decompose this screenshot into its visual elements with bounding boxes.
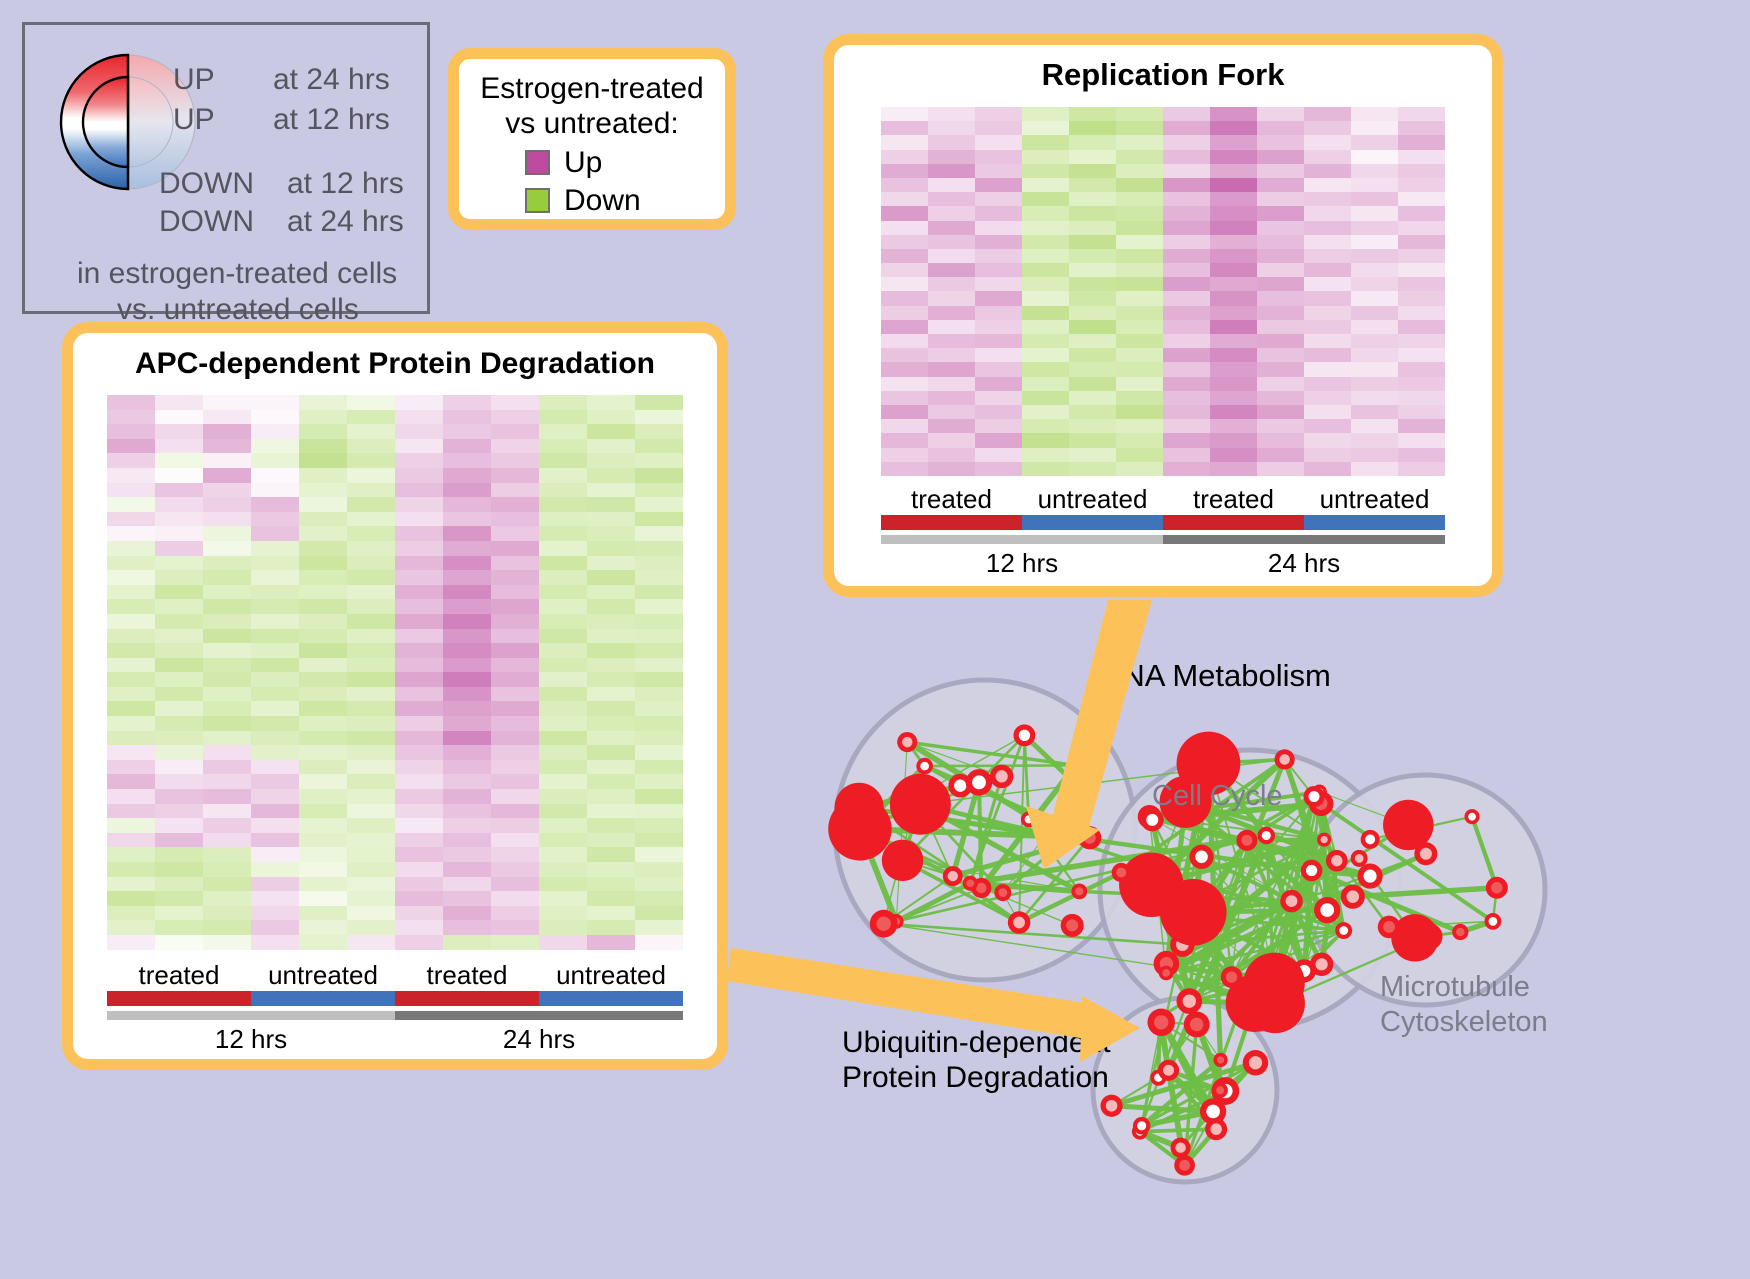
heatmap-cell: [1257, 107, 1304, 121]
network-node-core: [1364, 870, 1377, 883]
heatmap-cell: [1304, 263, 1351, 277]
condition-bar-segment: [539, 991, 683, 1006]
heatmap-cell: [443, 891, 491, 906]
heatmap-cell: [443, 716, 491, 731]
heatmap-cell: [299, 862, 347, 877]
heatmap-cell: [299, 556, 347, 571]
heatmap-cell: [1257, 377, 1304, 391]
heatmap-cell: [881, 405, 928, 419]
heatmap-cell: [975, 263, 1022, 277]
heatmap-cell: [155, 847, 203, 862]
heatmap-cell: [299, 906, 347, 921]
heatmap-cell: [203, 745, 251, 760]
heatmap-row: [107, 906, 683, 921]
heatmap-cell: [1351, 277, 1398, 291]
up-label: Up: [564, 146, 602, 180]
heatmap-cell: [1069, 320, 1116, 334]
heatmap-cell: [443, 468, 491, 483]
condition-label: treated: [395, 960, 539, 991]
heatmap-cell: [347, 906, 395, 921]
heatmap-cell: [1022, 320, 1069, 334]
heatmap-cell: [881, 419, 928, 433]
heatmap-cell: [299, 760, 347, 775]
heatmap-row: [107, 424, 683, 439]
heatmap-cell: [881, 377, 928, 391]
time-bar-segment: [881, 535, 1163, 544]
time-color-bar: [107, 1011, 683, 1020]
heatmap-cell: [928, 249, 975, 263]
heatmap-cell: [443, 935, 491, 950]
heatmap-cell: [299, 395, 347, 410]
heatmap-cell: [1304, 306, 1351, 320]
heatmap-cell: [299, 935, 347, 950]
heatmap-cell: [1398, 192, 1445, 206]
heatmap-cell: [975, 164, 1022, 178]
heatmap-cell: [155, 789, 203, 804]
heatmap-cell: [1257, 235, 1304, 249]
network-node-core: [1162, 969, 1170, 977]
heatmap-cell: [635, 847, 683, 862]
heatmap-cell: [635, 891, 683, 906]
heatmap-cell: [928, 348, 975, 362]
network-node-core: [1175, 1142, 1185, 1152]
heatmap-cell: [251, 585, 299, 600]
heatmap-cell: [539, 556, 587, 571]
condition-bar-segment: [1163, 515, 1304, 530]
heatmap-cell: [251, 424, 299, 439]
heatmap-cell: [881, 178, 928, 192]
heatmap-cell: [1304, 164, 1351, 178]
heatmap-cell: [1116, 164, 1163, 178]
updown-legend-header-line2: vs untreated:: [459, 106, 725, 141]
cluster-label-microtubule: Microtubule: [1380, 970, 1548, 1005]
heatmap-cell: [443, 920, 491, 935]
heatmap-cell: [203, 818, 251, 833]
heatmap-cell: [395, 935, 443, 950]
heatmap-cell: [395, 424, 443, 439]
heatmap-cell: [491, 920, 539, 935]
heatmap-cell: [1257, 249, 1304, 263]
heatmap-cell: [1069, 362, 1116, 376]
heatmap-cell: [491, 424, 539, 439]
heatmap-cell: [1210, 377, 1257, 391]
heatmap-cell: [443, 833, 491, 848]
heatmap-cell: [1304, 192, 1351, 206]
heatmap-cell: [975, 178, 1022, 192]
heatmap-cell: [539, 906, 587, 921]
heatmap-cell: [1163, 178, 1210, 192]
heatmap-cell: [347, 658, 395, 673]
heatmap-cell: [251, 920, 299, 935]
heatmap-cell: [928, 277, 975, 291]
heatmap-cell: [1210, 462, 1257, 476]
heatmap-cell: [587, 483, 635, 498]
heatmap-cell: [1257, 164, 1304, 178]
heatmap-cell: [539, 818, 587, 833]
heatmap-cell: [347, 526, 395, 541]
network-node-core: [1316, 958, 1328, 970]
network-node-core: [1241, 835, 1252, 846]
heatmap-cell: [539, 847, 587, 862]
heatmap-cell: [443, 847, 491, 862]
heatmap-cell: [1022, 235, 1069, 249]
heatmap-cell: [155, 658, 203, 673]
heatmap-cell: [928, 462, 975, 476]
heatmap-cell: [587, 935, 635, 950]
heatmap-cell: [635, 862, 683, 877]
heatmap-row: [107, 395, 683, 410]
heatmap-cell: [928, 221, 975, 235]
heatmap-cell: [155, 483, 203, 498]
heatmap-cell: [1022, 448, 1069, 462]
network-node-core: [1320, 903, 1334, 917]
heatmap-row: [107, 847, 683, 862]
heatmap-cell: [251, 731, 299, 746]
heatmap-cell: [107, 877, 155, 892]
heatmap-cell: [539, 453, 587, 468]
heatmap-row: [107, 497, 683, 512]
heatmap-cell: [1116, 178, 1163, 192]
heatmap-row: [107, 862, 683, 877]
heatmap-cell: [107, 935, 155, 950]
heatmap-cell: [635, 789, 683, 804]
heatmap-cell: [1210, 391, 1257, 405]
heatmap-cell: [1398, 362, 1445, 376]
heatmap-cell: [1163, 334, 1210, 348]
network-node-core: [1286, 895, 1298, 907]
heatmap-cell: [395, 512, 443, 527]
network-node-core: [902, 737, 912, 747]
heatmap-cell: [299, 483, 347, 498]
heatmap-cell: [491, 687, 539, 702]
heatmap-cell: [251, 658, 299, 673]
legend-state-up-24: UP: [173, 63, 215, 97]
heatmap-cell: [635, 701, 683, 716]
heatmap-row: [107, 687, 683, 702]
heatmap-cell: [1163, 462, 1210, 476]
heatmap-cell: [347, 541, 395, 556]
heatmap-cell: [1163, 221, 1210, 235]
heatmap-cell: [299, 920, 347, 935]
heatmap-cell: [539, 789, 587, 804]
heatmap-cell: [443, 687, 491, 702]
circle-color-key-legend: UP at 24 hrs UP at 12 hrs DOWN at 12 hrs…: [22, 22, 430, 314]
condition-label: treated: [1163, 484, 1304, 515]
condition-bar-segment: [1022, 515, 1163, 530]
heatmap-cell: [1163, 192, 1210, 206]
network-node-core: [1216, 1086, 1224, 1094]
heatmap-cell: [347, 774, 395, 789]
heatmap-cell: [881, 277, 928, 291]
network-node-core: [1383, 921, 1395, 933]
heatmap-cell: [395, 701, 443, 716]
heatmap-cell: [1022, 107, 1069, 121]
heatmap-cell: [491, 629, 539, 644]
heatmap-cell: [635, 877, 683, 892]
heatmap-cell: [107, 614, 155, 629]
heatmap-cell: [1116, 221, 1163, 235]
heatmap-cell: [1163, 377, 1210, 391]
heatmap-cell: [203, 862, 251, 877]
updown-legend-header-line1: Estrogen-treated: [459, 71, 725, 106]
heatmap-row: [881, 377, 1445, 391]
heatmap-cell: [491, 701, 539, 716]
heatmap-cell: [107, 658, 155, 673]
legend-state-down-12: DOWN: [159, 167, 254, 201]
heatmap-cell: [1069, 334, 1116, 348]
network-node-core: [1468, 813, 1476, 821]
heatmap-cell: [347, 497, 395, 512]
heatmap-cell: [443, 541, 491, 556]
network-node-core: [1489, 917, 1498, 926]
heatmap-cell: [1351, 462, 1398, 476]
heatmap-cell: [1304, 249, 1351, 263]
heatmap-cell: [203, 629, 251, 644]
heatmap-cell: [299, 629, 347, 644]
heatmap-cell: [1163, 235, 1210, 249]
replication-fork-axis: treateduntreatedtreateduntreated12 hrs24…: [881, 484, 1445, 579]
heatmap-cell: [1022, 462, 1069, 476]
heatmap-cell: [587, 439, 635, 454]
heatmap-cell: [1351, 377, 1398, 391]
heatmap-cell: [587, 556, 635, 571]
heatmap-cell: [539, 410, 587, 425]
legend-state-down-24: DOWN: [159, 205, 254, 239]
heatmap-cell: [251, 483, 299, 498]
heatmap-cell: [1069, 348, 1116, 362]
heatmap-cell: [1304, 277, 1351, 291]
heatmap-cell: [1398, 150, 1445, 164]
heatmap-cell: [539, 687, 587, 702]
heatmap-cell: [107, 599, 155, 614]
heatmap-cell: [107, 541, 155, 556]
heatmap-cell: [1398, 164, 1445, 178]
heatmap-cell: [539, 629, 587, 644]
time-label: 24 hrs: [1163, 548, 1445, 579]
heatmap-cell: [443, 599, 491, 614]
heatmap-cell: [251, 453, 299, 468]
heatmap-cell: [155, 862, 203, 877]
network-node-core: [1262, 831, 1271, 840]
heatmap-cell: [491, 541, 539, 556]
heatmap-cell: [203, 424, 251, 439]
heatmap-row: [107, 658, 683, 673]
heatmap-row: [107, 789, 683, 804]
heatmap-cell: [1351, 206, 1398, 220]
heatmap-cell: [107, 862, 155, 877]
legend-item-up: Up: [525, 146, 725, 180]
time-label: 12 hrs: [107, 1024, 395, 1055]
heatmap-cell: [491, 614, 539, 629]
heatmap-cell: [587, 906, 635, 921]
heatmap-cell: [928, 391, 975, 405]
heatmap-cell: [395, 716, 443, 731]
heatmap-row: [107, 731, 683, 746]
heatmap-cell: [155, 745, 203, 760]
heatmap-cell: [1304, 391, 1351, 405]
heatmap-cell: [443, 556, 491, 571]
heatmap-cell: [539, 614, 587, 629]
network-node-core: [1063, 835, 1071, 843]
heatmap-cell: [881, 448, 928, 462]
network-node-core: [1146, 814, 1158, 826]
network-node-core: [1365, 834, 1375, 844]
heatmap-row: [881, 277, 1445, 291]
heatmap-cell: [1398, 334, 1445, 348]
time-bar-segment: [1163, 535, 1445, 544]
heatmap-row: [107, 745, 683, 760]
heatmap-cell: [491, 716, 539, 731]
heatmap-cell: [347, 920, 395, 935]
heatmap-cell: [107, 891, 155, 906]
heatmap-cell: [299, 658, 347, 673]
heatmap-cell: [1210, 178, 1257, 192]
heatmap-cell: [491, 395, 539, 410]
heatmap-cell: [155, 395, 203, 410]
heatmap-cell: [107, 818, 155, 833]
heatmap-cell: [1351, 448, 1398, 462]
heatmap-cell: [1398, 419, 1445, 433]
heatmap-cell: [975, 235, 1022, 249]
heatmap-cell: [443, 483, 491, 498]
heatmap-cell: [155, 731, 203, 746]
heatmap-cell: [251, 395, 299, 410]
heatmap-cell: [491, 483, 539, 498]
heatmap-cell: [1398, 320, 1445, 334]
heatmap-cell: [107, 512, 155, 527]
heatmap-cell: [299, 453, 347, 468]
heatmap-cell: [635, 760, 683, 775]
heatmap-cell: [491, 512, 539, 527]
heatmap-cell: [587, 818, 635, 833]
heatmap-cell: [1210, 235, 1257, 249]
heatmap-cell: [1069, 235, 1116, 249]
heatmap-cell: [107, 745, 155, 760]
heatmap-cell: [107, 497, 155, 512]
network-node-core: [1226, 971, 1237, 982]
heatmap-cell: [299, 701, 347, 716]
network-node-core: [1116, 868, 1126, 878]
legend-state-up-12: UP: [173, 103, 215, 137]
heatmap-cell: [1069, 277, 1116, 291]
heatmap-cell: [881, 221, 928, 235]
heatmap-cell: [635, 935, 683, 950]
pathway-network-diagram: DNA Metabolism Cell Cycle Microtubule Cy…: [780, 600, 1740, 1270]
heatmap-row: [107, 629, 683, 644]
heatmap-cell: [1210, 306, 1257, 320]
heatmap-cell: [203, 395, 251, 410]
heatmap-cell: [975, 291, 1022, 305]
heatmap-cell: [1398, 391, 1445, 405]
network-node-core: [1071, 760, 1081, 770]
heatmap-cell: [395, 395, 443, 410]
heatmap-cell: [1257, 121, 1304, 135]
heatmap-cell: [1304, 291, 1351, 305]
heatmap-cell: [587, 468, 635, 483]
heatmap-cell: [1398, 249, 1445, 263]
heatmap-cell: [299, 847, 347, 862]
heatmap-cell: [491, 526, 539, 541]
heatmap-row: [107, 526, 683, 541]
heatmap-cell: [1069, 206, 1116, 220]
heatmap-cell: [251, 760, 299, 775]
heatmap-cell: [1210, 135, 1257, 149]
heatmap-cell: [539, 804, 587, 819]
heatmap-cell: [203, 658, 251, 673]
heatmap-cell: [1116, 419, 1163, 433]
heatmap-cell: [1069, 306, 1116, 320]
heatmap-cell: [587, 862, 635, 877]
heatmap-cell: [587, 541, 635, 556]
heatmap-cell: [539, 672, 587, 687]
heatmap-row: [107, 818, 683, 833]
heatmap-cell: [1257, 263, 1304, 277]
heatmap-cell: [1022, 263, 1069, 277]
heatmap-cell: [395, 847, 443, 862]
heatmap-cell: [587, 497, 635, 512]
heatmap-cell: [1022, 362, 1069, 376]
heatmap-cell: [443, 629, 491, 644]
heatmap-cell: [395, 629, 443, 644]
heatmap-cell: [635, 920, 683, 935]
heatmap-cell: [1398, 448, 1445, 462]
heatmap-cell: [635, 453, 683, 468]
heatmap-row: [107, 774, 683, 789]
heatmap-cell: [155, 599, 203, 614]
heatmap-cell: [539, 468, 587, 483]
network-node-core: [1163, 1065, 1174, 1076]
heatmap-cell: [1022, 306, 1069, 320]
heatmap-cell: [1210, 362, 1257, 376]
heatmap-cell: [1351, 221, 1398, 235]
heatmap-cell: [395, 643, 443, 658]
heatmap-cell: [395, 862, 443, 877]
heatmap-cell: [443, 410, 491, 425]
heatmap-cell: [1351, 178, 1398, 192]
heatmap-cell: [491, 599, 539, 614]
heatmap-cell: [1351, 433, 1398, 447]
heatmap-cell: [539, 935, 587, 950]
network-node-core: [1183, 994, 1196, 1007]
legend-footer-line1: in estrogen-treated cells: [77, 257, 397, 291]
heatmap-cell: [635, 410, 683, 425]
heatmap-row: [107, 541, 683, 556]
network-node-core: [1154, 1015, 1168, 1029]
heatmap-cell: [1163, 291, 1210, 305]
heatmap-cell: [635, 541, 683, 556]
heatmap-cell: [443, 701, 491, 716]
heatmap-cell: [347, 453, 395, 468]
heatmap-cell: [299, 424, 347, 439]
heatmap-cell: [155, 672, 203, 687]
cluster-label-cytoskeleton: Cytoskeleton: [1380, 1005, 1548, 1040]
heatmap-cell: [928, 377, 975, 391]
heatmap-cell: [395, 556, 443, 571]
time-color-bar: [881, 535, 1445, 544]
heatmap-cell: [251, 614, 299, 629]
heatmap-cell: [203, 410, 251, 425]
heatmap-cell: [1163, 391, 1210, 405]
condition-label: untreated: [251, 960, 395, 991]
heatmap-cell: [1304, 348, 1351, 362]
network-node-core: [1106, 1100, 1118, 1112]
heatmap-cell: [1069, 405, 1116, 419]
heatmap-cell: [299, 687, 347, 702]
heatmap-cell: [443, 439, 491, 454]
heatmap-cell: [1022, 405, 1069, 419]
heatmap-cell: [1210, 291, 1257, 305]
heatmap-cell: [928, 433, 975, 447]
